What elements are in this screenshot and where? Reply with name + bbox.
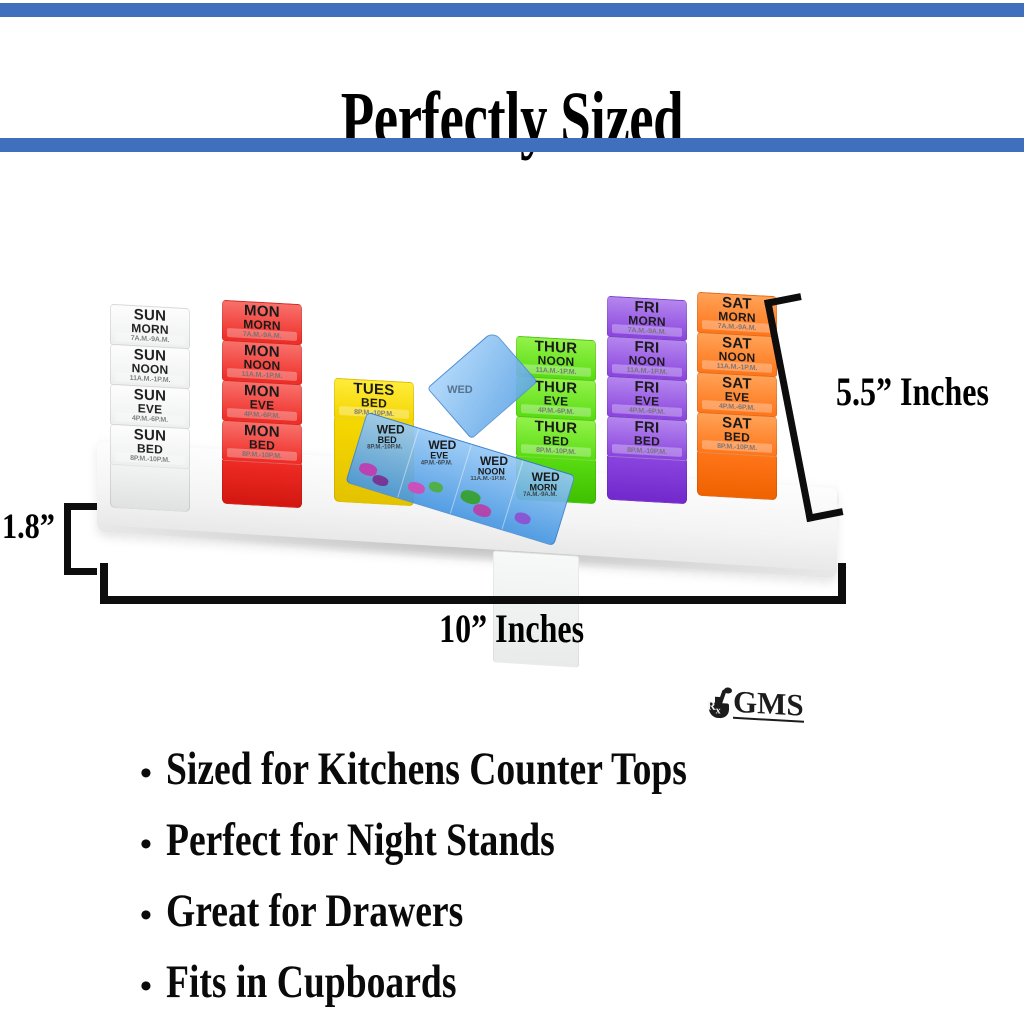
pills-group	[347, 449, 408, 497]
time-label: 4P.M.-6P.M.	[629, 406, 665, 417]
time-label: 8P.M.-10P.M.	[367, 444, 402, 451]
bullet-icon: •	[140, 954, 152, 1020]
time-label: 4P.M.-6P.M.	[132, 414, 168, 425]
compartment-mon-bed[interactable]: MON BED 8P.M.-10P.M.	[222, 420, 302, 465]
compartment-sun-bed[interactable]: SUN BED 8P.M.-10P.M.	[110, 424, 190, 469]
width-dimension-text: 10” Inches	[440, 605, 585, 652]
pills-group	[398, 465, 459, 513]
compartment-fri-eve[interactable]: FRI EVE 4P.M.-6P.M.	[607, 376, 687, 421]
pills-group	[502, 497, 563, 545]
slot-label: NOON	[629, 354, 666, 368]
day-column-mon[interactable]: MON MORN 7A.M.-9A.M. MON NOON 11A.M.-1P.…	[222, 300, 302, 508]
slot-label: NOON	[719, 350, 756, 364]
slot-label: NOON	[478, 467, 505, 477]
pill	[407, 480, 426, 495]
slot-label: EVE	[725, 390, 750, 403]
feature-text: Great for Drawers	[166, 878, 463, 944]
time-label: 7A.M.-9A.M.	[131, 334, 170, 345]
slot-label: MORN	[529, 482, 557, 492]
compartment-mon-noon[interactable]: MON NOON 11A.M.-1P.M.	[222, 340, 302, 385]
time-label: 7A.M.-9A.M.	[243, 330, 282, 341]
compartment-sun-noon[interactable]: SUN NOON 11A.M.-1P.M.	[110, 344, 190, 389]
compartment-mon-eve[interactable]: MON EVE 4P.M.-6P.M.	[222, 380, 302, 425]
compartment-fri-morn[interactable]: FRI MORN 7A.M.-9A.M.	[607, 296, 687, 341]
time-label: 4P.M.-6P.M.	[719, 402, 755, 413]
slot-label: NOON	[244, 358, 281, 372]
time-label: 4P.M.-6P.M.	[538, 406, 574, 417]
bullet-icon: •	[140, 812, 152, 878]
slot-label: MORN	[131, 322, 168, 336]
list-item: • Perfect for Night Stands	[140, 807, 1000, 878]
bullet-icon: •	[140, 883, 152, 949]
slot-label: EVE	[635, 394, 660, 407]
slot-label: MORN	[628, 314, 665, 328]
slot-label: NOON	[132, 362, 169, 376]
height-dimension-label: 1.8”	[2, 505, 55, 547]
slot-label: NOON	[538, 354, 575, 368]
time-label: 8P.M.-10P.M.	[717, 442, 757, 453]
day-label: WED	[480, 456, 508, 467]
compartment-fri-noon[interactable]: FRI NOON 11A.M.-1P.M.	[607, 336, 687, 381]
pill	[471, 502, 492, 519]
depth-dimension-label: 5.5” Inches	[836, 368, 989, 415]
list-item: • Fits in Cupboards	[140, 949, 1000, 1020]
time-label: 11A.M.-1P.M.	[471, 476, 507, 483]
slot-label: BED	[724, 430, 750, 443]
header-accent-bar-top	[0, 3, 1024, 17]
day-column-sun[interactable]: SUN MORN 7A.M.-9A.M. SUN NOON 11A.M.-1P.…	[110, 304, 190, 512]
compartment-sun-morn[interactable]: SUN MORN 7A.M.-9A.M.	[110, 304, 190, 349]
slot-label: MORN	[243, 318, 280, 332]
time-label: 8P.M.-10P.M.	[627, 446, 667, 457]
lifted-column-body: WED BED 8P.M.-10P.M. WED EVE 4P.M.-6P.M.…	[345, 412, 575, 547]
slot-label: EVE	[430, 451, 448, 461]
slot-label: EVE	[138, 402, 163, 415]
slot-label: EVE	[250, 398, 275, 411]
time-label: 4P.M.-6P.M.	[421, 460, 453, 467]
pill	[513, 511, 532, 526]
width-dimension-label: 10” Inches	[0, 605, 1024, 652]
compartment-sun-eve[interactable]: SUN EVE 4P.M.-6P.M.	[110, 384, 190, 429]
time-label: 7A.M.-9A.M.	[523, 492, 557, 499]
time-label: 8P.M.-10P.M.	[130, 454, 170, 465]
day-label: WED	[532, 472, 560, 483]
feature-list: • Sized for Kitchens Counter Tops • Perf…	[140, 736, 1000, 1020]
list-item: • Great for Drawers	[140, 878, 1000, 949]
compartment-mon-morn[interactable]: MON MORN 7A.M.-9A.M.	[222, 300, 302, 345]
slot-label: BED	[634, 434, 660, 447]
time-label: 7A.M.-9A.M.	[628, 326, 667, 337]
brand-logo: Rx GMS	[706, 686, 804, 722]
time-label: 4P.M.-6P.M.	[244, 410, 280, 421]
pill	[428, 480, 444, 494]
rx-mortar-pestle-icon: Rx	[706, 689, 732, 718]
lid-day-label: WED	[447, 384, 473, 396]
feature-text: Perfect for Night Stands	[166, 807, 555, 873]
feature-text: Sized for Kitchens Counter Tops	[166, 736, 687, 802]
compartment-fri-bed[interactable]: FRI BED 8P.M.-10P.M.	[607, 416, 687, 461]
time-label: 11A.M.-1P.M.	[242, 370, 283, 381]
width-bracket	[100, 563, 846, 604]
time-label: 11A.M.-1P.M.	[130, 374, 171, 385]
day-label: WED	[428, 440, 456, 451]
column-skirt-sat	[697, 452, 777, 500]
feature-text: Fits in Cupboards	[166, 949, 456, 1015]
slot-label: BED	[137, 442, 163, 455]
time-label: 11A.M.-1P.M.	[536, 366, 577, 377]
header-accent-bar-bottom	[0, 138, 1024, 152]
day-label: WED	[376, 424, 404, 435]
time-label: 8P.M.-10P.M.	[242, 450, 282, 461]
slot-label: EVE	[544, 394, 569, 407]
column-skirt-mon	[222, 460, 302, 508]
brand-name: GMS	[733, 688, 804, 723]
bullet-icon: •	[140, 741, 152, 807]
slot-label: BED	[378, 435, 397, 445]
column-skirt-sun	[110, 464, 190, 512]
time-label: 11A.M.-1P.M.	[717, 362, 758, 373]
pills-group	[450, 481, 511, 529]
day-column-fri[interactable]: FRI MORN 7A.M.-9A.M. FRI NOON 11A.M.-1P.…	[607, 296, 687, 504]
column-skirt-fri	[607, 456, 687, 504]
slot-label: BED	[249, 438, 275, 451]
time-label: 11A.M.-1P.M.	[627, 366, 668, 377]
list-item: • Sized for Kitchens Counter Tops	[140, 736, 1000, 807]
pill	[371, 473, 389, 487]
height-bracket	[64, 503, 97, 575]
compartment-sat-bed[interactable]: SAT BED 8P.M.-10P.M.	[697, 412, 777, 457]
